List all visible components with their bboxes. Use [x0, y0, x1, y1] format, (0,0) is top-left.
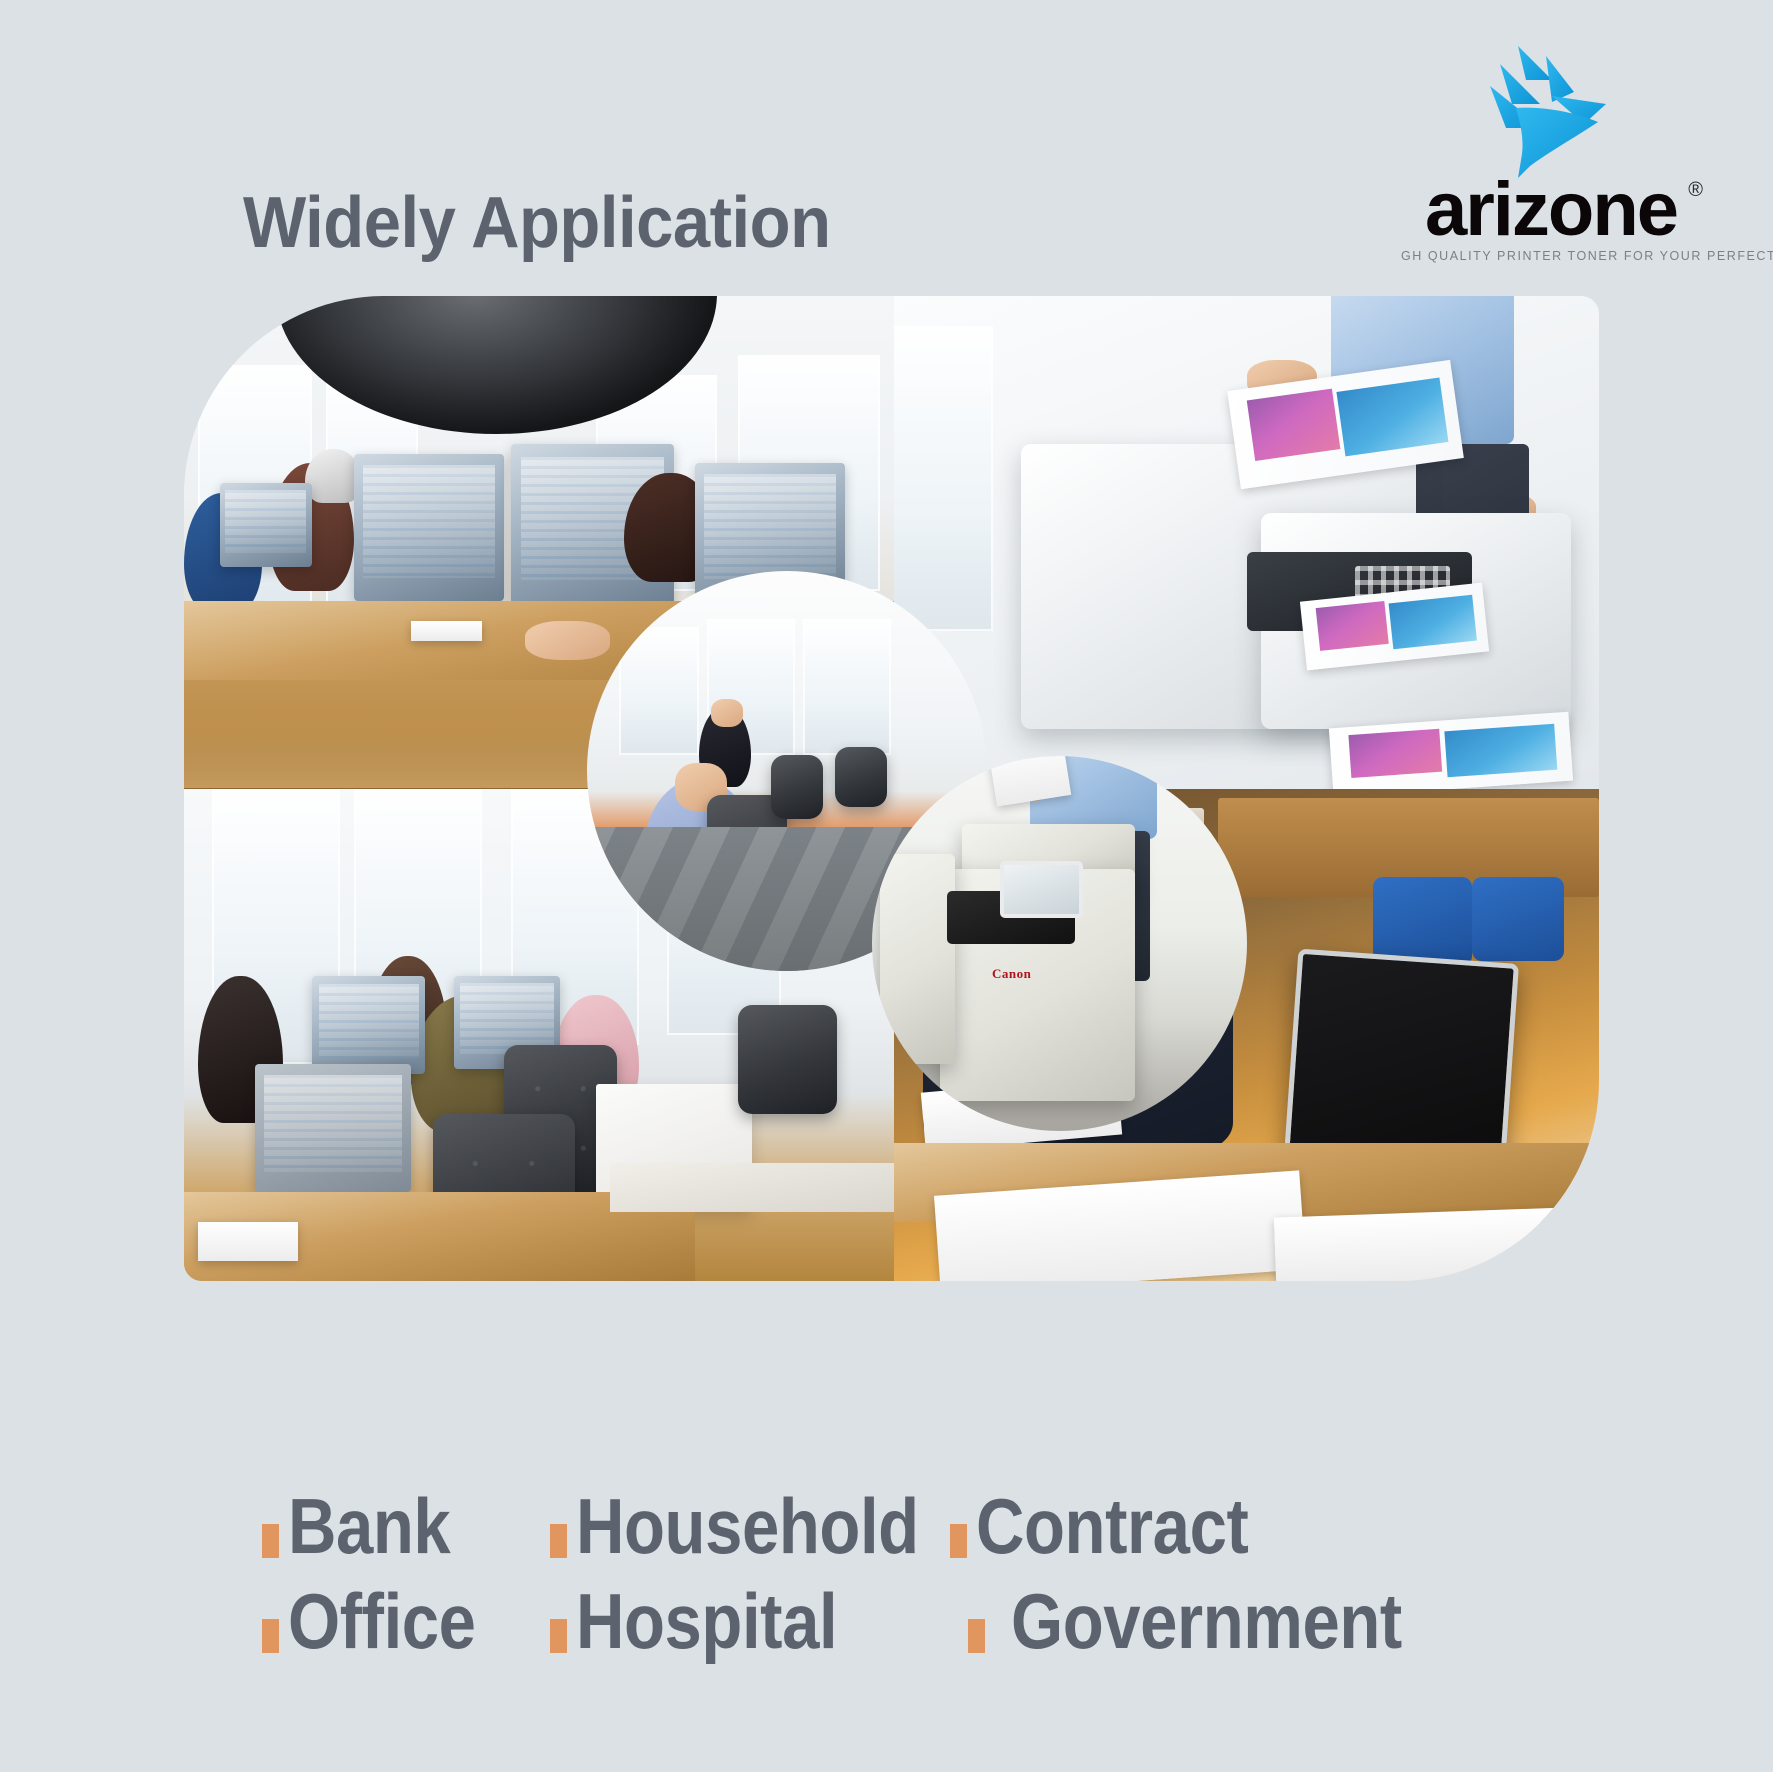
copier-touchscreen[interactable] [1000, 861, 1083, 918]
canon-brand-mark: Canon [992, 966, 1031, 982]
application-label: Hospital [576, 1581, 837, 1662]
brand-logo: arizone ® GH QUALITY PRINTER TONER FOR Y… [1401, 46, 1701, 263]
application-item-bank[interactable]: Bank [262, 1486, 550, 1567]
brand-wordmark-label: arizone [1425, 167, 1677, 252]
registered-mark-icon: ® [1688, 181, 1701, 199]
poster-canvas: arizone ® GH QUALITY PRINTER TONER FOR Y… [0, 0, 1773, 1772]
printer-photo [894, 296, 1599, 789]
brand-wordmark-text: arizone ® [1425, 175, 1677, 245]
application-item-office[interactable]: Office [262, 1581, 550, 1662]
page-title: Widely Application [243, 182, 831, 264]
application-item-contract[interactable]: Contract [950, 1486, 1293, 1567]
bullet-square-icon [262, 1619, 279, 1653]
application-label: Contract [976, 1486, 1248, 1567]
application-item-household[interactable]: Household [550, 1486, 950, 1567]
application-label: Household [576, 1486, 919, 1567]
application-label: Government [1011, 1581, 1402, 1662]
application-label: Bank [288, 1486, 450, 1567]
collage-panel-printer [894, 296, 1599, 789]
image-collage: Canon [184, 296, 1599, 1281]
bullet-square-icon [550, 1524, 567, 1558]
canon-copier-photo: Canon [872, 756, 1247, 1131]
bullet-square-icon [262, 1524, 279, 1558]
collage-circle-canon-copier: Canon [872, 756, 1247, 1131]
application-row-2: Office Hospital Government [262, 1581, 1542, 1662]
bullet-square-icon [550, 1619, 567, 1653]
application-list: Bank Household Contract Office Hospital [262, 1486, 1542, 1676]
application-label: Office [288, 1581, 476, 1662]
application-row-1: Bank Household Contract [262, 1486, 1542, 1567]
bullet-square-icon [950, 1524, 967, 1558]
bird-logo-icon [1456, 46, 1646, 181]
bullet-square-icon [968, 1619, 985, 1653]
application-item-government[interactable]: Government [968, 1581, 1465, 1662]
application-item-hospital[interactable]: Hospital [550, 1581, 950, 1662]
